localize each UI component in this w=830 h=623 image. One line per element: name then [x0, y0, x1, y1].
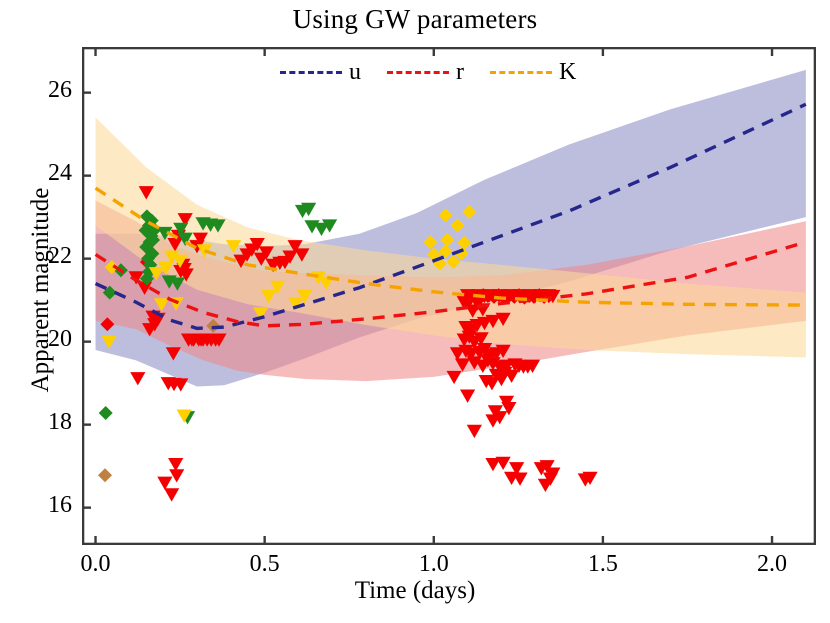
marker-triangle-down [496, 457, 511, 470]
figure-canvas: Using GW parameters Apparent magnitude T… [0, 0, 830, 623]
marker-triangle-down [164, 488, 179, 501]
legend-label-u: u [349, 60, 361, 84]
marker-diamond [98, 468, 112, 482]
legend-line-u [280, 71, 342, 74]
plot-area [82, 47, 816, 545]
y-tick-label: 24 [12, 160, 72, 187]
x-tick-label: 2.0 [732, 551, 812, 578]
legend-line-r [387, 71, 449, 74]
marker-triangle-down [467, 425, 482, 438]
marker-triangle-down [446, 371, 461, 384]
y-tick-label: 20 [12, 326, 72, 353]
x-tick-label: 0.0 [56, 551, 136, 578]
x-axis-label: Time (days) [0, 577, 830, 605]
marker-triangle-down [130, 372, 145, 385]
legend-item-K[interactable]: K [490, 60, 576, 84]
y-tick-label: 16 [12, 492, 72, 519]
legend-item-r[interactable]: r [387, 60, 464, 84]
marker-triangle-down [460, 390, 475, 403]
x-tick-label: 0.5 [225, 551, 305, 578]
chart-legend: urK [280, 55, 640, 89]
legend-line-K [490, 71, 552, 74]
y-tick-label: 26 [12, 77, 72, 104]
legend-label-r: r [456, 60, 464, 84]
chart-svg [82, 47, 816, 545]
legend-label-K: K [559, 60, 576, 84]
y-tick-label: 22 [12, 243, 72, 270]
marker-triangle-down [157, 477, 172, 490]
x-tick-label: 1.5 [563, 551, 643, 578]
legend-item-u[interactable]: u [280, 60, 361, 84]
y-axis-label: Apparent magnitude [27, 175, 55, 405]
marker-triangle-down [169, 469, 184, 482]
marker-diamond [99, 406, 113, 420]
x-tick-label: 1.0 [394, 551, 474, 578]
y-tick-label: 18 [12, 409, 72, 436]
chart-title: Using GW parameters [0, 4, 830, 35]
